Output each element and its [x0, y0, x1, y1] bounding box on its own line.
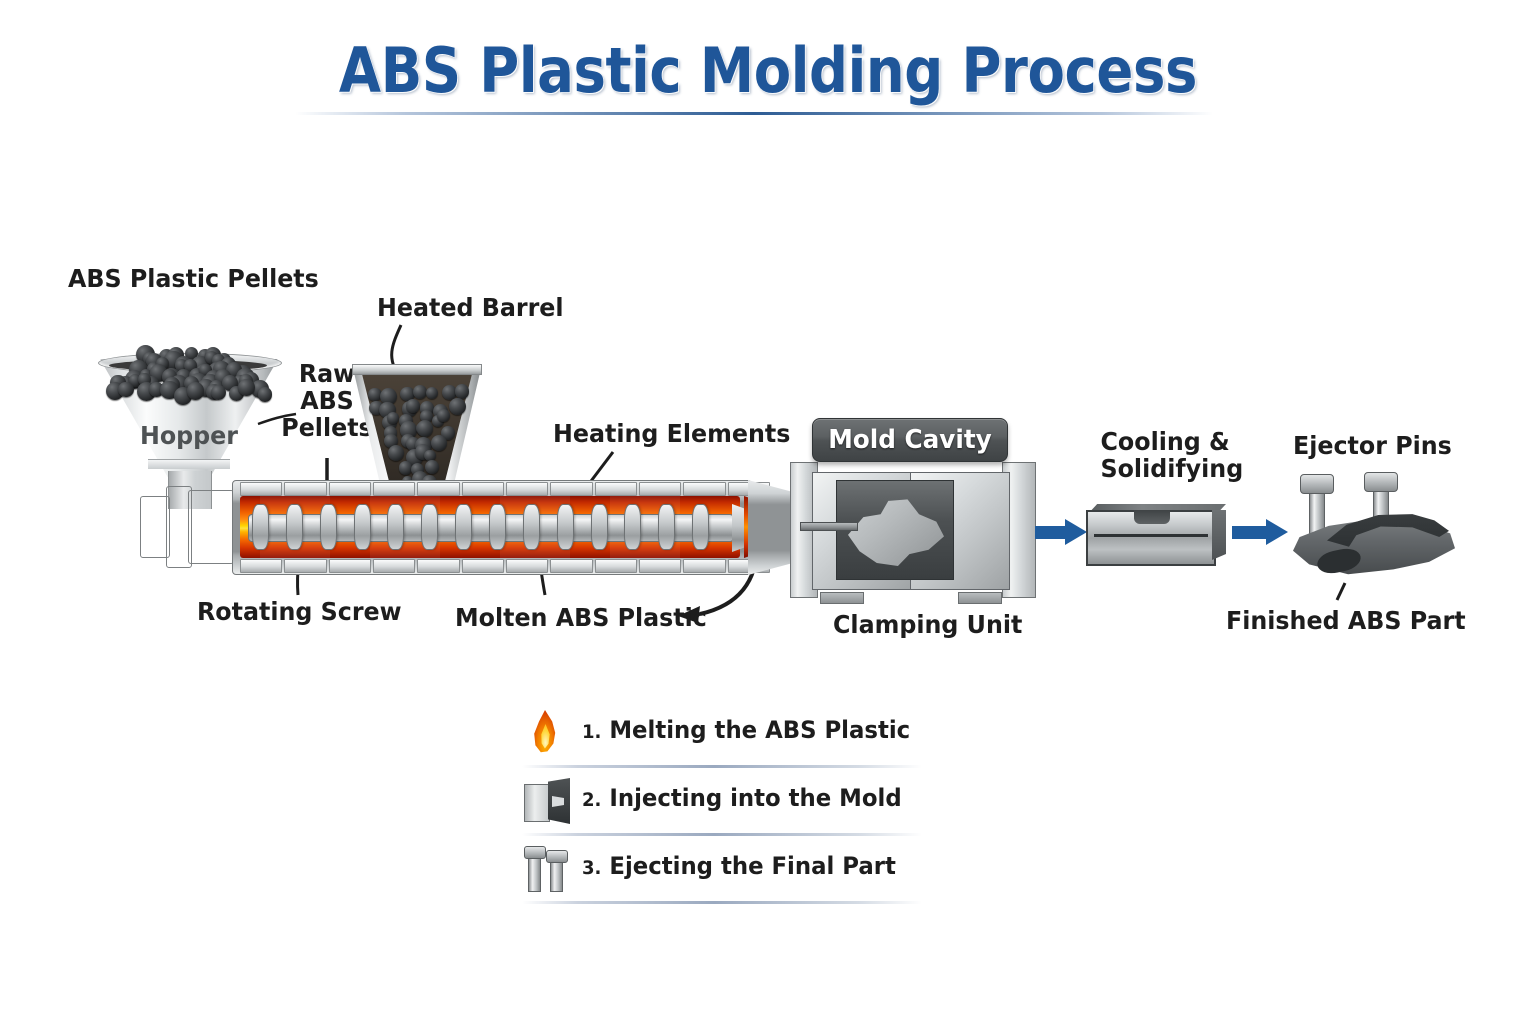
label-heated-barrel: Heated Barrel	[377, 294, 564, 321]
title-divider	[295, 112, 1213, 115]
pellet	[455, 384, 470, 399]
legend-divider-3	[522, 901, 922, 904]
flow-arrow-icon-1	[1035, 519, 1087, 545]
legend-row-3[interactable]: 3. Ejecting the Final Part	[520, 842, 940, 910]
feeder-rim	[352, 364, 482, 375]
screw-flight	[557, 504, 574, 550]
pellet	[211, 385, 226, 400]
label-ejector-pins: Ejector Pins	[1293, 432, 1452, 459]
screw-flight	[387, 504, 404, 550]
mold-cavity-badge: Mold Cavity	[812, 418, 1008, 462]
cooling-block-notch	[1134, 510, 1170, 524]
screw-flight	[523, 504, 540, 550]
screw-flight	[354, 504, 371, 550]
heated-barrel-assembly	[140, 470, 780, 585]
pellet	[406, 399, 420, 413]
finished-part-assembly	[1285, 468, 1465, 588]
hopper-band	[148, 459, 230, 469]
screw-flight	[591, 504, 608, 550]
screw-flight	[252, 504, 269, 550]
label-abs-plastic-pellets: ABS Plastic Pellets	[68, 265, 319, 292]
legend-row-2[interactable]: 2. Injecting into the Mold	[520, 774, 940, 842]
legend-step-2-label: Injecting into the Mold	[609, 784, 901, 812]
legend-row-1[interactable]: 1. Melting the ABS Plastic	[520, 706, 940, 774]
flame-icon	[520, 708, 574, 756]
mold-foot-right	[958, 592, 1002, 604]
mold-icon	[520, 776, 574, 824]
ejector-pin-2-head	[1364, 472, 1398, 492]
label-cooling-solidifying: Cooling & Solidifying	[1101, 428, 1272, 482]
legend-number-2: 2.	[582, 789, 601, 811]
drive-collar-3	[188, 490, 234, 564]
screw-flight	[692, 504, 709, 550]
legend-label-2: 2. Injecting into the Mold	[582, 784, 902, 812]
heating-elements-top	[240, 482, 770, 496]
ejector-pins-icon	[520, 844, 574, 892]
label-rotating-screw: Rotating Screw	[197, 598, 402, 625]
screw-flight	[455, 504, 472, 550]
screw-flight	[489, 504, 506, 550]
screw-flight	[286, 504, 303, 550]
screw-flight	[320, 504, 337, 550]
legend-divider-1	[522, 765, 922, 768]
legend-step-1-label: Melting the ABS Plastic	[609, 716, 910, 744]
screw-flight	[658, 504, 675, 550]
cooling-solidifying-block	[1086, 504, 1226, 566]
legend-step-3-label: Ejecting the Final Part	[609, 852, 895, 880]
pellet	[387, 412, 399, 424]
label-clamping-unit: Clamping Unit	[833, 611, 1022, 638]
pellet	[417, 420, 434, 437]
clamping-unit: Mold Cavity	[790, 450, 1040, 610]
diagram-canvas: ABS Plastic Molding Process ABS Plastic …	[0, 0, 1536, 1024]
screw-flight	[624, 504, 641, 550]
label-heating-elements: Heating Elements	[553, 420, 790, 447]
pellet	[437, 409, 450, 422]
cooling-block-side	[1212, 510, 1226, 560]
legend-number-1: 1.	[582, 721, 601, 743]
ejector-pin-1-head	[1300, 474, 1334, 494]
pellet	[258, 387, 273, 402]
sprue-channel	[800, 522, 858, 531]
mold-foot-left	[820, 592, 864, 604]
flow-arrow-icon-2	[1232, 519, 1290, 545]
hopper-label: Hopper	[104, 421, 273, 450]
legend-number-3: 3.	[582, 857, 601, 879]
legend-divider-2	[522, 833, 922, 836]
pellet	[187, 382, 204, 399]
cooling-block-seam	[1094, 534, 1208, 537]
pellet	[118, 382, 134, 398]
pellet	[426, 387, 438, 399]
label-finished-abs-part: Finished ABS Part	[1226, 607, 1466, 634]
legend-label-3: 3. Ejecting the Final Part	[582, 852, 896, 880]
process-legend: 1. Melting the ABS Plastic 2. Injecting …	[520, 706, 940, 910]
heating-elements-bottom	[240, 559, 770, 573]
page-title: ABS Plastic Molding Process	[92, 34, 1444, 107]
legend-label-1: 1. Melting the ABS Plastic	[582, 716, 910, 744]
screw-flight	[421, 504, 438, 550]
mold-cavity-badge-label: Mold Cavity	[818, 419, 1002, 461]
label-molten-abs-plastic: Molten ABS Plastic	[455, 604, 707, 631]
